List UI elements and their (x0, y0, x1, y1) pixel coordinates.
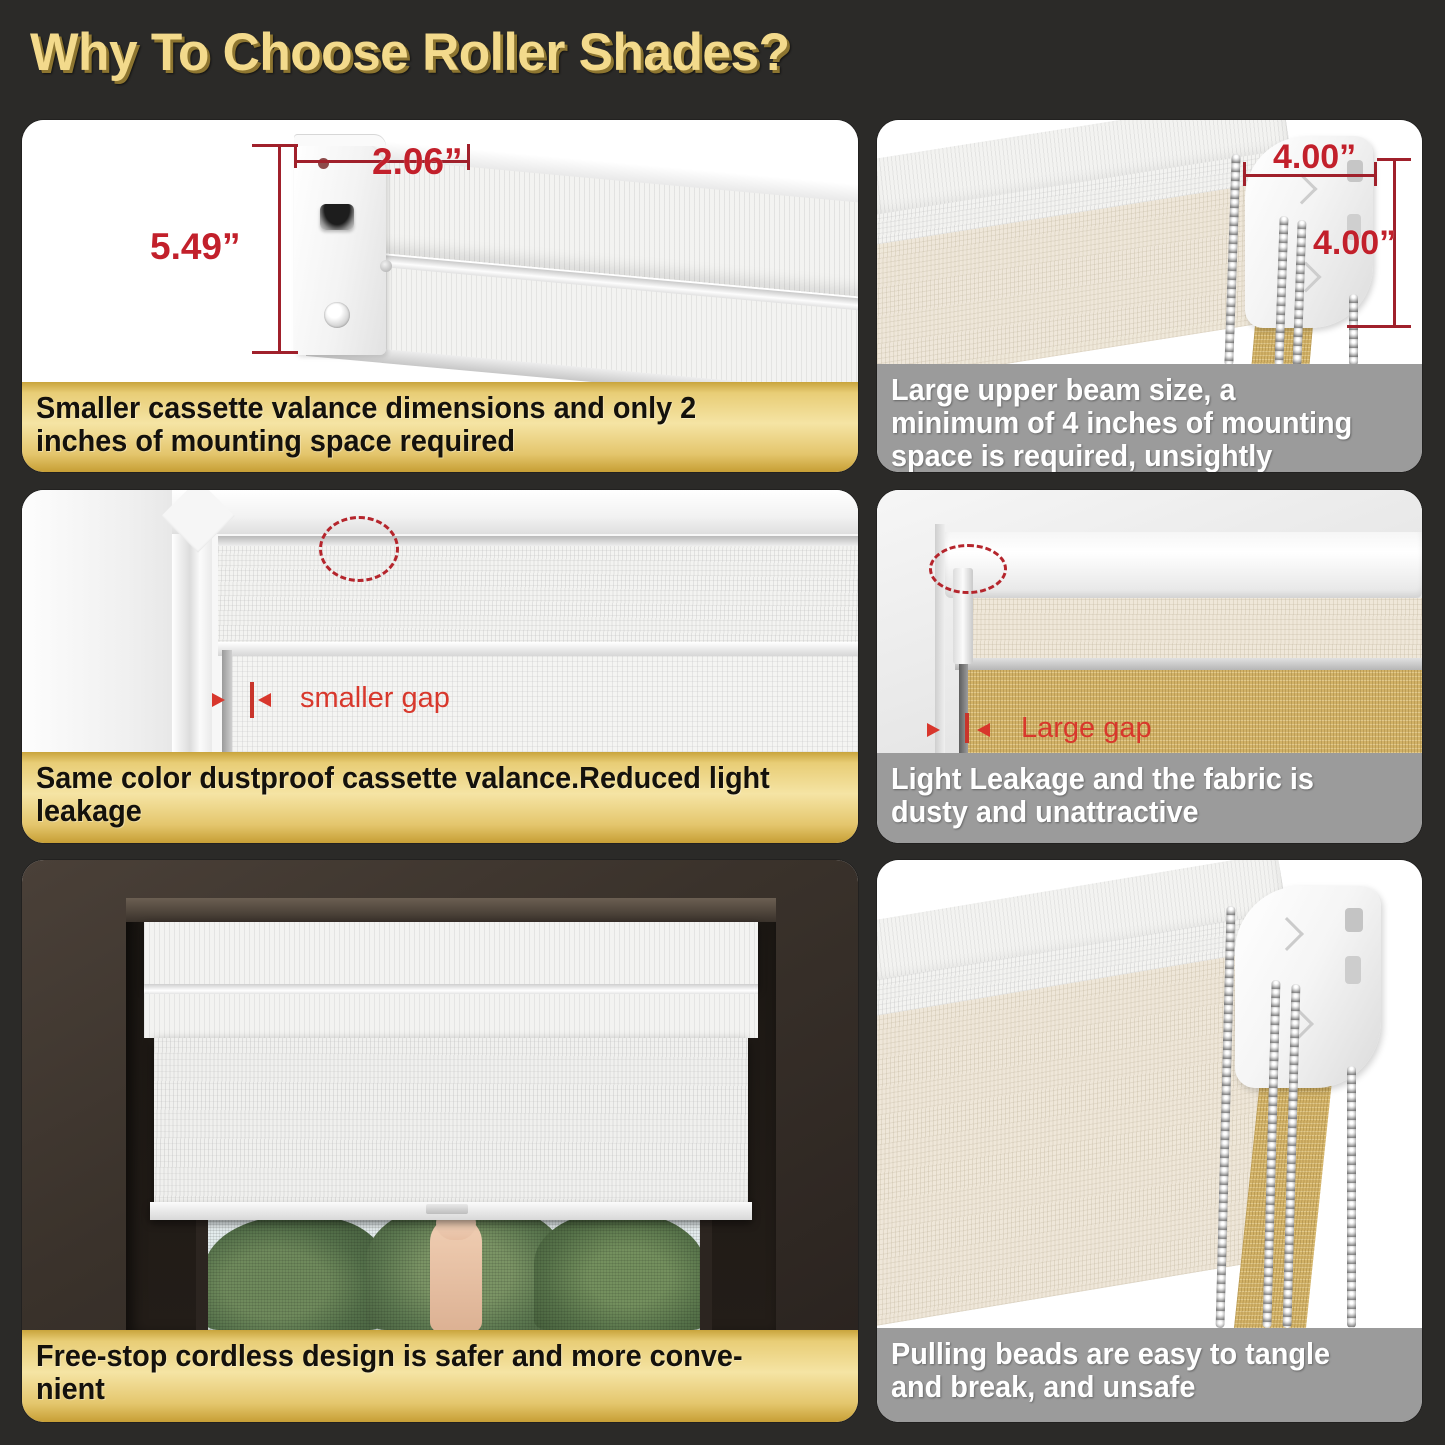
beam-height-tick-top (1377, 158, 1411, 161)
height-dim-tick-bottom (252, 351, 298, 354)
width-dim-label: 2.06” (372, 141, 463, 183)
valance-cassette-lower (144, 994, 758, 1038)
panel-cordless: Free-stop cordless design is safer and m… (22, 860, 858, 1422)
window-frame-top (172, 490, 858, 534)
panel-pull-beads: Pulling beads are easy to tangle and bre… (877, 860, 1422, 1422)
comparison-grid: 2.06” 5.49” Smaller cassette valance dim… (0, 0, 1445, 1445)
panel-caption-text: Pulling beads are easy to tangle and bre… (891, 1338, 1370, 1404)
gap-highlight-ring (319, 516, 399, 582)
panel-smaller-gap: smaller gap Same color dustproof cassett… (22, 490, 858, 843)
gap-arrow-left (927, 723, 940, 737)
panel-caption: Large upper beam size, a minimum of 4 in… (877, 364, 1422, 472)
panel-large-gap: Large gap Light Leakage and the fabric i… (877, 490, 1422, 843)
roller-shade-fabric (154, 1038, 748, 1210)
panel-caption-text: Same color dustproof cassette valance.Re… (36, 762, 786, 828)
gap-arrow-left-outer (212, 693, 225, 707)
bracket-slot-icon (320, 204, 354, 230)
shade-fabric-cream (965, 598, 1422, 660)
gap-arrow-right (977, 723, 990, 737)
gap-label: smaller gap (300, 682, 450, 715)
cassette-valance-face (218, 546, 858, 646)
panel-caption-text: Light Leakage and the fabric is dusty an… (891, 763, 1370, 829)
bottom-rail-bar (955, 658, 1422, 670)
gap-marker-bar (965, 713, 969, 743)
beam-height-tick-bottom (1347, 325, 1411, 328)
beam-width-tick-left (1243, 162, 1246, 186)
roller-headrail (945, 532, 1422, 598)
bead-chain-4 (1349, 294, 1358, 364)
panel-caption: Smaller cassette valance dimensions and … (22, 382, 858, 472)
valance-bottom-lip (218, 642, 858, 656)
cassette-valance-photo: 2.06” 5.49” (22, 120, 858, 382)
panel-caption-text: Smaller cassette valance dimensions and … (36, 392, 786, 458)
beam-width-dim-label: 4.00” (1273, 138, 1356, 177)
width-dim-tick-left (294, 146, 297, 168)
cordless-room-photo (22, 860, 858, 1330)
cassette-valance-top-rail (218, 536, 858, 546)
beam-width-tick-right (1374, 162, 1377, 186)
smaller-gap-photo: smaller gap (22, 490, 858, 752)
gap-arrow-right (258, 693, 271, 707)
large-beam-photo: 4.00” 4.00” (877, 120, 1422, 364)
large-gap-photo: Large gap (877, 490, 1422, 753)
panel-caption-text: Free-stop cordless design is safer and m… (36, 1340, 786, 1406)
pull-beads-photo (877, 860, 1422, 1328)
height-dim-line (278, 144, 281, 354)
valance-cassette-top (144, 922, 758, 988)
width-dim-tick-right (467, 144, 470, 170)
bracket-screw-icon (324, 302, 350, 328)
panel-large-beam: 4.00” 4.00” Large upper beam size, a min… (877, 120, 1422, 472)
panel-caption: Same color dustproof cassette valance.Re… (22, 752, 858, 843)
gap-label: Large gap (1021, 712, 1152, 745)
gap-marker-bar (250, 682, 254, 718)
panel-caption: Pulling beads are easy to tangle and bre… (877, 1328, 1422, 1422)
screw-head-icon (380, 260, 392, 272)
panel-caption-text: Large upper beam size, a minimum of 4 in… (891, 374, 1370, 472)
window-frame-left (22, 490, 182, 752)
gap-highlight-ring (929, 544, 1007, 594)
height-dim-label: 5.49” (150, 226, 241, 268)
bracket-mount-slot-mid (1345, 956, 1361, 984)
panel-caption: Light Leakage and the fabric is dusty an… (877, 753, 1422, 843)
height-dim-tick-top (252, 144, 298, 147)
shade-pull-tab (426, 1204, 468, 1214)
window-recess-top-trim (126, 898, 776, 922)
bracket-mount-slot-top (1345, 908, 1363, 932)
panel-cassette-dimensions: 2.06” 5.49” Smaller cassette valance dim… (22, 120, 858, 472)
beam-height-dim-label: 4.00” (1313, 224, 1396, 263)
panel-caption: Free-stop cordless design is safer and m… (22, 1330, 858, 1422)
bead-chain-4 (1347, 1066, 1356, 1328)
